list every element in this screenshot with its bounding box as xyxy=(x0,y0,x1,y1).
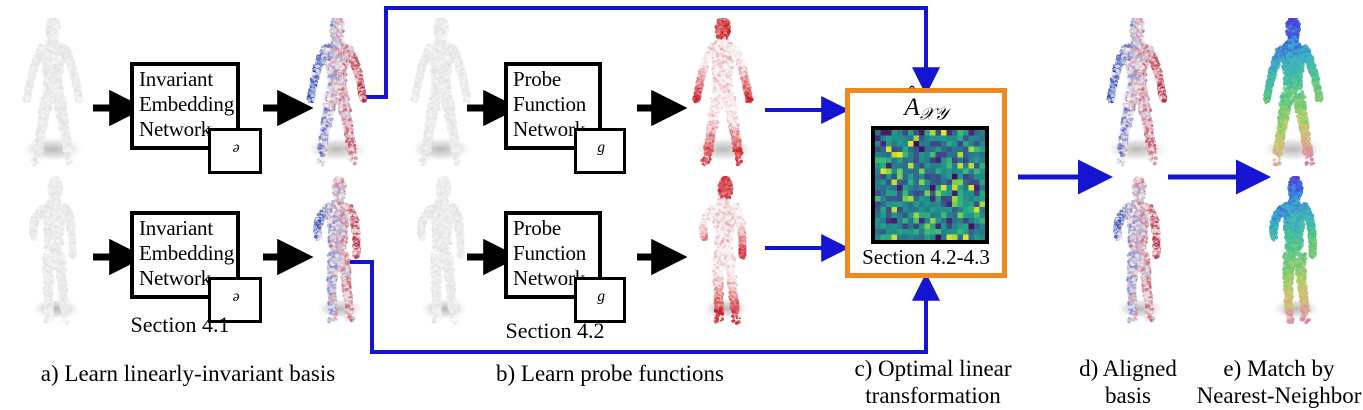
matrix-section-label: Section 4.2-4.3 xyxy=(850,245,1002,270)
caption-a: a) Learn linearly-invariant basis xyxy=(8,360,368,387)
mesh-match-bottom xyxy=(1248,176,1338,326)
caption-c-line2: transformation xyxy=(818,382,1048,409)
mesh-probe-input-bottom xyxy=(396,176,486,326)
section-label-b: Section 4.2 xyxy=(460,318,650,344)
net-line-1: Probe xyxy=(513,216,596,241)
correspondence-matrix-heatmap xyxy=(871,126,989,244)
mesh-probe-input-top xyxy=(396,18,486,168)
net-line-1: Invariant xyxy=(139,67,234,92)
caption-e-line2: Nearest-Neighbor xyxy=(1196,382,1362,409)
matrix-label-subscript: 𝒳𝒴 xyxy=(920,104,948,123)
caption-e-line1: e) Match by xyxy=(1196,355,1362,382)
mesh-probe-bottom xyxy=(678,176,768,326)
optimal-transformation-box[interactable]: ̂ A 𝒳𝒴 Section 4.2-4.3 xyxy=(845,88,1007,278)
mesh-input-bottom xyxy=(8,176,98,326)
caption-c: c) Optimal linear transformation xyxy=(818,355,1048,409)
caption-c-line1: c) Optimal linear xyxy=(818,355,1048,382)
mesh-aligned-top xyxy=(1092,18,1182,168)
symbol-N-top: ᵊ xyxy=(208,128,262,174)
matrix-label: ̂ A 𝒳𝒴 xyxy=(850,94,1002,124)
net-line-1: Invariant xyxy=(139,216,234,241)
caption-d: d) Aligned basis xyxy=(1048,355,1208,409)
figure-canvas: Invariant Embedding Network ᵊ Invariant … xyxy=(0,0,1363,410)
caption-e: e) Match by Nearest-Neighbor xyxy=(1196,355,1362,409)
net-line-2: Function xyxy=(513,241,596,266)
mesh-aligned-bottom xyxy=(1092,176,1182,326)
caption-d-line2: basis xyxy=(1048,382,1208,409)
net-line-2: Embedding xyxy=(139,241,234,266)
caption-b: b) Learn probe functions xyxy=(430,360,790,387)
symbol-G-top: ᵍ xyxy=(574,128,626,174)
mesh-basis-top xyxy=(292,18,382,168)
mesh-input-top xyxy=(8,18,98,168)
mesh-basis-bottom xyxy=(292,176,382,326)
caption-d-line1: d) Aligned xyxy=(1048,355,1208,382)
mesh-probe-top xyxy=(678,18,768,168)
net-line-1: Probe xyxy=(513,67,596,92)
section-label-a: Section 4.1 xyxy=(85,312,275,338)
net-line-2: Embedding xyxy=(139,92,234,117)
net-line-2: Function xyxy=(513,92,596,117)
mesh-match-top xyxy=(1248,18,1338,168)
symbol-G-bottom: ᵍ xyxy=(574,277,626,323)
